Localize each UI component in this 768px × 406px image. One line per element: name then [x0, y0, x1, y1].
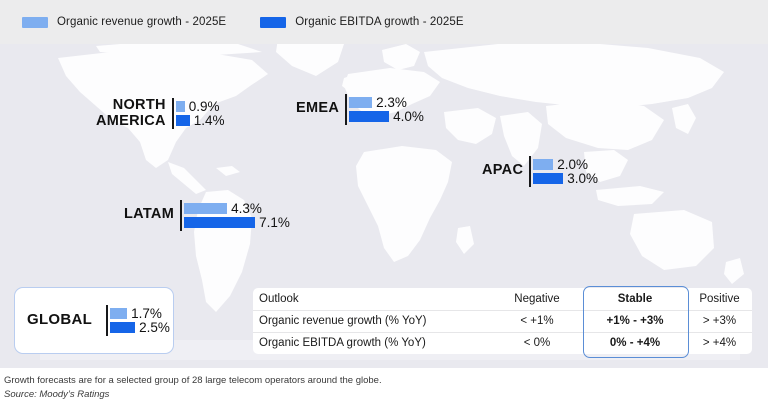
- region-label-north-america: NORTH AMERICA: [96, 98, 166, 129]
- table-header-stable: Stable: [583, 288, 687, 310]
- global-summary-box: GLOBAL 1.7% 2.5%: [14, 287, 174, 354]
- region-bars-latam: 4.3% 7.1%: [180, 200, 290, 231]
- legend-label-ebitda: Organic EBITDA growth - 2025E: [295, 16, 463, 28]
- region-label-global: GLOBAL: [27, 312, 92, 328]
- bar-value-ebitda: 7.1%: [259, 215, 290, 230]
- bar-ebitda: [110, 322, 135, 333]
- bar-row-ebitda: 3.0%: [533, 172, 598, 185]
- bar-value-ebitda: 1.4%: [194, 113, 225, 128]
- region-bars-north-america: 0.9% 1.4%: [172, 98, 225, 129]
- table-header-outlook: Outlook: [253, 288, 491, 310]
- region-label-emea: EMEA: [296, 101, 339, 117]
- legend-label-revenue: Organic revenue growth - 2025E: [57, 16, 226, 28]
- bar-row-revenue: 2.3%: [349, 96, 424, 109]
- region-bars-emea: 2.3% 4.0%: [345, 94, 424, 125]
- cell-revenue-positive: > +3%: [687, 310, 752, 332]
- bar-row-ebitda: 2.5%: [110, 321, 170, 334]
- bar-value-revenue: 1.7%: [131, 306, 162, 321]
- row-label-revenue: Organic revenue growth (% YoY): [253, 310, 491, 332]
- row-label-ebitda: Organic EBITDA growth (% YoY): [253, 332, 491, 354]
- region-axis-line: [172, 98, 174, 129]
- bar-row-ebitda: 1.4%: [176, 114, 225, 127]
- region-axis-line: [180, 200, 182, 231]
- table-header-row: Outlook Negative Stable Positive: [253, 288, 752, 310]
- region-axis-line: [106, 305, 108, 336]
- bar-value-ebitda: 4.0%: [393, 109, 424, 124]
- region-axis-line: [529, 156, 531, 187]
- footer: Growth forecasts are for a selected grou…: [4, 374, 764, 402]
- table-row: Organic EBITDA growth (% YoY) < 0% 0% - …: [253, 332, 752, 354]
- region-label-latam: LATAM: [124, 207, 174, 223]
- bar-revenue: [184, 203, 227, 214]
- region-group-global: GLOBAL 1.7% 2.5%: [27, 305, 170, 336]
- outlook-table: Outlook Negative Stable Positive Organic…: [253, 288, 752, 354]
- bar-revenue: [349, 97, 372, 108]
- bar-ebitda: [176, 115, 190, 126]
- bar-row-revenue: 2.0%: [533, 158, 598, 171]
- region-bars-apac: 2.0% 3.0%: [529, 156, 598, 187]
- table-header-negative: Negative: [491, 288, 583, 310]
- cell-revenue-negative: < +1%: [491, 310, 583, 332]
- bar-value-revenue: 2.0%: [557, 157, 588, 172]
- region-label-apac: APAC: [482, 163, 523, 179]
- region-axis-line: [345, 94, 347, 125]
- table-header-positive: Positive: [687, 288, 752, 310]
- bar-row-revenue: 1.7%: [110, 307, 170, 320]
- bar-revenue: [533, 159, 553, 170]
- bar-revenue: [176, 101, 185, 112]
- region-group-latam: LATAM 4.3% 7.1%: [124, 200, 290, 231]
- bar-row-ebitda: 4.0%: [349, 110, 424, 123]
- bar-row-revenue: 0.9%: [176, 100, 225, 113]
- chart-legend: Organic revenue growth - 2025E Organic E…: [0, 0, 768, 44]
- cell-ebitda-positive: > +4%: [687, 332, 752, 354]
- bar-ebitda: [349, 111, 389, 122]
- legend-item-revenue: Organic revenue growth - 2025E: [22, 16, 226, 28]
- bar-value-revenue: 4.3%: [231, 201, 262, 216]
- region-group-apac: APAC 2.0% 3.0%: [482, 156, 598, 187]
- region-bars-global: 1.7% 2.5%: [106, 305, 170, 336]
- legend-swatch-dark-icon: [260, 17, 286, 28]
- legend-item-ebitda: Organic EBITDA growth - 2025E: [260, 16, 463, 28]
- bar-value-ebitda: 3.0%: [567, 171, 598, 186]
- bar-row-revenue: 4.3%: [184, 202, 290, 215]
- legend-swatch-light-icon: [22, 17, 48, 28]
- bar-row-ebitda: 7.1%: [184, 216, 290, 229]
- bar-ebitda: [184, 217, 255, 228]
- bar-value-revenue: 2.3%: [376, 95, 407, 110]
- bar-value-revenue: 0.9%: [189, 99, 220, 114]
- source-text: Source: Moody’s Ratings: [4, 388, 764, 402]
- cell-ebitda-stable: 0% - +4%: [583, 332, 687, 354]
- table-row: Organic revenue growth (% YoY) < +1% +1%…: [253, 310, 752, 332]
- footnote-text: Growth forecasts are for a selected grou…: [4, 374, 764, 388]
- region-group-north-america: NORTH AMERICA 0.9% 1.4%: [96, 98, 225, 129]
- region-group-emea: EMEA 2.3% 4.0%: [296, 94, 424, 125]
- cell-revenue-stable: +1% - +3%: [583, 310, 687, 332]
- bar-ebitda: [533, 173, 563, 184]
- bar-revenue: [110, 308, 127, 319]
- infographic-root: Organic revenue growth - 2025E Organic E…: [0, 0, 768, 406]
- cell-ebitda-negative: < 0%: [491, 332, 583, 354]
- bar-value-ebitda: 2.5%: [139, 320, 170, 335]
